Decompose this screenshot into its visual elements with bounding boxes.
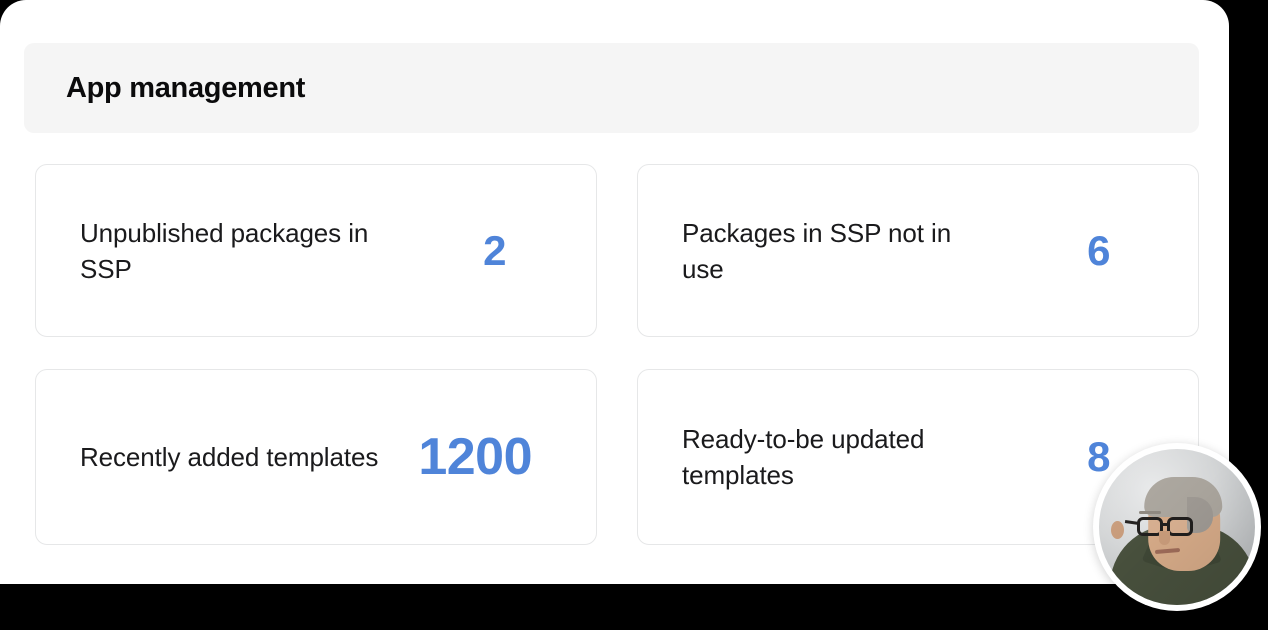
avatar-vignette xyxy=(1099,449,1255,605)
metric-card-unpublished-packages[interactable]: Unpublished packages in SSP 2 xyxy=(35,164,597,337)
metric-card-recently-added-templates[interactable]: Recently added templates 1200 xyxy=(35,369,597,545)
page-title: App management xyxy=(66,72,305,105)
metric-card-value: 2 xyxy=(483,230,506,272)
avatar xyxy=(1093,443,1261,611)
metric-card-label: Unpublished packages in SSP xyxy=(80,215,410,287)
avatar-photo xyxy=(1099,449,1255,605)
metric-card-label: Recently added templates xyxy=(80,439,378,475)
metric-card-value: 1200 xyxy=(418,431,532,483)
header-bar: App management xyxy=(24,43,1199,133)
metric-card-grid: Unpublished packages in SSP 2 Packages i… xyxy=(35,164,1201,545)
metric-card-label: Ready-to-be updated templates xyxy=(682,421,992,493)
metric-card-label: Packages in SSP not in use xyxy=(682,215,982,287)
app-panel: App management Unpublished packages in S… xyxy=(0,0,1229,584)
metric-card-value: 6 xyxy=(1087,230,1110,272)
metric-card-packages-not-in-use[interactable]: Packages in SSP not in use 6 xyxy=(637,164,1199,337)
metric-card-value: 8 xyxy=(1087,436,1110,478)
